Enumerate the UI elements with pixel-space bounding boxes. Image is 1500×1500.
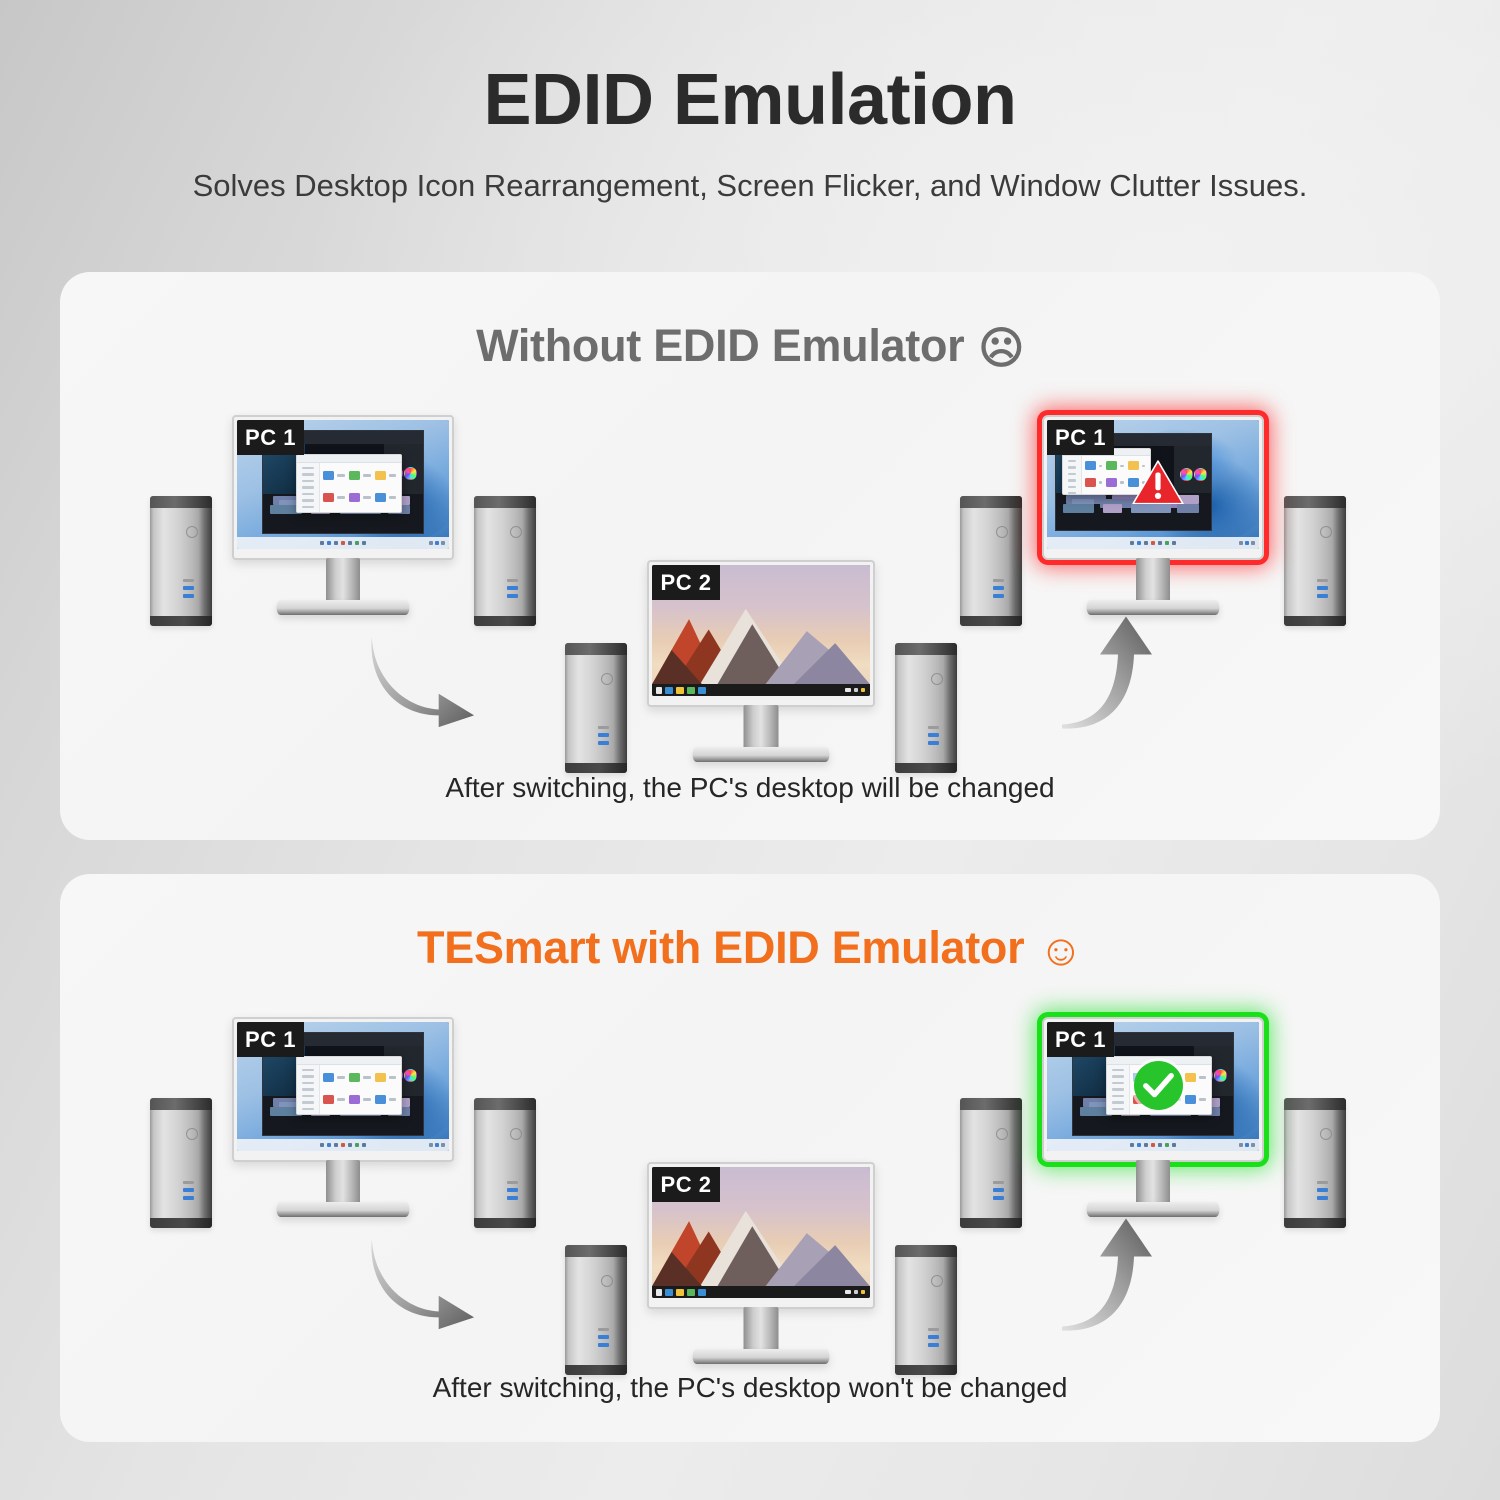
without-right-pc-label: PC 1 — [1047, 420, 1114, 455]
power-button-icon[interactable] — [601, 673, 613, 685]
list-item — [349, 1069, 371, 1087]
list-item — [323, 1069, 345, 1087]
power-button-icon[interactable] — [931, 1275, 943, 1287]
list-item — [1185, 1069, 1207, 1087]
list-item — [1085, 459, 1102, 472]
front-ports[interactable] — [598, 726, 614, 752]
with-arrow-right-icon — [362, 1230, 480, 1330]
explorer-sidebar — [1063, 456, 1082, 494]
explorer-sidebar — [297, 463, 320, 512]
list-item — [375, 489, 397, 507]
with-center-monitor-neck — [744, 1307, 779, 1353]
with-center-screen: PC 2 — [652, 1167, 870, 1298]
without-center-pc-label: PC 2 — [652, 565, 720, 600]
without-right-monitor-bezel: PC 1 — [1042, 415, 1264, 560]
list-item — [1185, 1091, 1207, 1109]
with-center-pc-label: PC 2 — [652, 1167, 720, 1202]
front-ports[interactable] — [928, 1328, 944, 1354]
front-ports[interactable] — [183, 1181, 199, 1207]
with-right-monitor[interactable]: PC 1 — [1042, 1017, 1264, 1162]
with-center-right-pc-tower[interactable] — [895, 1245, 957, 1375]
with-left-monitor[interactable]: PC 1 — [232, 1017, 454, 1162]
with-left-pc-label: PC 1 — [237, 1022, 304, 1057]
tower-top-panel — [565, 643, 627, 655]
list-item — [349, 1091, 371, 1109]
tower-base — [150, 1218, 212, 1228]
without-center-right-pc-tower[interactable] — [895, 643, 957, 773]
without-left-right-pc-tower[interactable] — [474, 496, 536, 626]
power-button-icon[interactable] — [186, 526, 198, 538]
with-center-workstation: PC 2 — [565, 1162, 957, 1379]
power-button-icon[interactable] — [931, 673, 943, 685]
without-center-screen: PC 2 — [652, 565, 870, 696]
without-right-workstation: PC 1 — [960, 415, 1346, 630]
list-item — [323, 467, 345, 485]
with-left-monitor-base — [277, 1202, 410, 1217]
power-button-icon[interactable] — [996, 1128, 1008, 1140]
without-center-left-pc-tower[interactable] — [565, 643, 627, 773]
without-arrow-right-icon — [362, 628, 480, 728]
power-button-icon[interactable] — [601, 1275, 613, 1287]
without-center-monitor-neck — [744, 705, 779, 751]
with-center-left-pc-tower[interactable] — [565, 1245, 627, 1375]
list-item — [375, 1091, 397, 1109]
front-ports[interactable] — [993, 1181, 1009, 1207]
list-item — [1085, 476, 1102, 489]
front-ports[interactable] — [993, 579, 1009, 605]
check-circle-icon — [1134, 1061, 1183, 1110]
taskbar — [1047, 1139, 1259, 1151]
with-left-monitor-neck — [326, 1160, 360, 1206]
without-center-workstation: PC 2 — [565, 560, 957, 777]
with-center-monitor-bezel: PC 2 — [647, 1162, 875, 1309]
explorer-file-grid — [320, 464, 399, 510]
tower-base — [895, 763, 957, 773]
tower-base — [960, 616, 1022, 626]
tower-top-panel — [150, 1098, 212, 1110]
diagram-stage: PC 1 PC 2 — [0, 0, 1500, 1500]
tower-top-panel — [960, 1098, 1022, 1110]
tower-top-panel — [895, 643, 957, 655]
without-right-monitor-neck — [1136, 558, 1170, 604]
tower-top-panel — [1284, 1098, 1346, 1110]
without-center-monitor-base — [693, 747, 830, 762]
power-button-icon[interactable] — [996, 526, 1008, 538]
file-explorer-window — [296, 1056, 402, 1115]
without-right-monitor[interactable]: PC 1 — [1042, 415, 1264, 560]
list-item — [1106, 476, 1123, 489]
list-item — [349, 467, 371, 485]
mountain-illustration — [652, 1192, 870, 1286]
with-right-pc-label: PC 1 — [1047, 1022, 1114, 1057]
with-arrow-up-icon — [1060, 1210, 1160, 1335]
with-left-workstation: PC 1 — [150, 1017, 536, 1232]
tower-base — [895, 1365, 957, 1375]
tower-top-panel — [150, 496, 212, 508]
list-item — [375, 467, 397, 485]
without-left-left-pc-tower[interactable] — [150, 496, 212, 626]
power-button-icon[interactable] — [186, 1128, 198, 1140]
tower-top-panel — [474, 1098, 536, 1110]
front-ports[interactable] — [507, 579, 523, 605]
without-right-screen: PC 1 — [1047, 420, 1259, 549]
without-arrow-up-icon — [1060, 608, 1160, 733]
tower-base — [960, 1218, 1022, 1228]
tower-base — [150, 616, 212, 626]
without-left-screen: PC 1 — [237, 420, 449, 549]
tower-base — [474, 1218, 536, 1228]
explorer-toolbar — [297, 1057, 401, 1065]
tower-base — [1284, 1218, 1346, 1228]
power-button-icon[interactable] — [1320, 526, 1332, 538]
explorer-file-grid — [320, 1066, 399, 1112]
taskbar — [652, 684, 870, 696]
list-item — [323, 489, 345, 507]
with-left-left-pc-tower[interactable] — [150, 1098, 212, 1228]
tower-top-panel — [895, 1245, 957, 1257]
list-item — [323, 1091, 345, 1109]
tower-base — [474, 616, 536, 626]
front-ports[interactable] — [507, 1181, 523, 1207]
with-left-screen: PC 1 — [237, 1022, 449, 1151]
front-ports[interactable] — [1317, 579, 1333, 605]
with-right-workstation: PC 1 — [960, 1017, 1346, 1232]
list-item — [375, 1069, 397, 1087]
taskbar — [237, 1139, 449, 1151]
power-button-icon[interactable] — [510, 526, 522, 538]
list-item — [349, 489, 371, 507]
mountain-illustration — [652, 590, 870, 684]
with-right-screen: PC 1 — [1047, 1022, 1259, 1151]
file-explorer-window — [296, 454, 402, 513]
taskbar — [1047, 537, 1259, 549]
explorer-sidebar — [297, 1065, 320, 1114]
with-left-right-pc-tower[interactable] — [474, 1098, 536, 1228]
warning-triangle-icon — [1132, 459, 1184, 505]
without-left-monitor-neck — [326, 558, 360, 604]
taskbar — [237, 537, 449, 549]
power-button-icon[interactable] — [1320, 1128, 1332, 1140]
with-right-right-pc-tower[interactable] — [1284, 1098, 1346, 1228]
tower-base — [565, 1365, 627, 1375]
without-left-monitor[interactable]: PC 1 — [232, 415, 454, 560]
tower-base — [565, 763, 627, 773]
tower-top-panel — [1284, 496, 1346, 508]
with-center-monitor[interactable]: PC 2 — [647, 1162, 875, 1309]
without-left-pc-label: PC 1 — [237, 420, 304, 455]
taskbar — [652, 1286, 870, 1298]
without-left-workstation: PC 1 — [150, 415, 536, 630]
without-right-right-pc-tower[interactable] — [1284, 496, 1346, 626]
with-right-monitor-neck — [1136, 1160, 1170, 1206]
with-left-monitor-bezel: PC 1 — [232, 1017, 454, 1162]
with-right-monitor-bezel: PC 1 — [1042, 1017, 1264, 1162]
tower-base — [1284, 616, 1346, 626]
explorer-toolbar — [297, 455, 401, 463]
front-ports[interactable] — [183, 579, 199, 605]
list-item — [1106, 459, 1123, 472]
without-center-monitor-bezel: PC 2 — [647, 560, 875, 707]
tower-top-panel — [474, 496, 536, 508]
front-ports[interactable] — [598, 1328, 614, 1354]
with-right-left-pc-tower[interactable] — [960, 1098, 1022, 1228]
tower-top-panel — [960, 496, 1022, 508]
front-ports[interactable] — [928, 726, 944, 752]
without-left-monitor-bezel: PC 1 — [232, 415, 454, 560]
explorer-sidebar — [1107, 1065, 1130, 1114]
tower-top-panel — [565, 1245, 627, 1257]
without-center-monitor[interactable]: PC 2 — [647, 560, 875, 707]
with-center-monitor-base — [693, 1349, 830, 1364]
without-right-left-pc-tower[interactable] — [960, 496, 1022, 626]
power-button-icon[interactable] — [510, 1128, 522, 1140]
front-ports[interactable] — [1317, 1181, 1333, 1207]
without-left-monitor-base — [277, 600, 410, 615]
